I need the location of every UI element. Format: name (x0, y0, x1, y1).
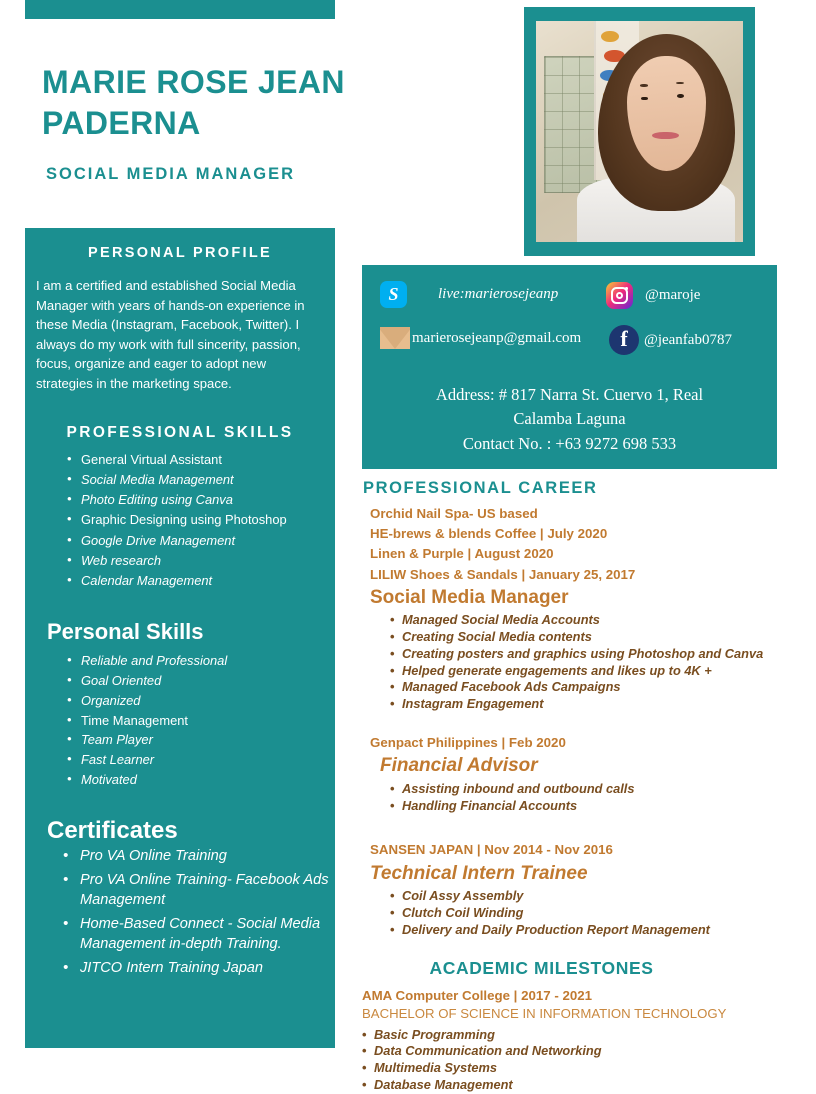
degree-name: BACHELOR OF SCIENCE IN INFORMATION TECHN… (360, 1003, 800, 1024)
personal-skills-heading: Personal Skills (25, 619, 335, 645)
list-item: Managed Facebook Ads Campaigns (390, 679, 800, 696)
personal-skills-list: Reliable and Professional Goal Oriented … (25, 651, 335, 790)
list-item: General Virtual Assistant (67, 450, 335, 470)
school-name: AMA Computer College | 2017 - 2021 (360, 988, 800, 1003)
spacer (360, 814, 800, 840)
list-item: Handling Financial Accounts (390, 798, 800, 815)
list-item: Coil Assy Assembly (390, 888, 800, 905)
list-item: Google Drive Management (67, 531, 335, 551)
contact-number: Contact No. : +63 9272 698 533 (362, 432, 777, 456)
spacer (360, 938, 800, 958)
list-item: Motivated (67, 770, 335, 790)
personal-profile-text: I am a certified and established Social … (25, 261, 335, 393)
list-item: Managed Social Media Accounts (390, 612, 800, 629)
company-line: LILIW Shoes & Sandals | January 25, 2017 (360, 565, 800, 585)
list-item: Creating posters and graphics using Phot… (390, 646, 800, 663)
courses-list: Basic Programming Data Communication and… (360, 1027, 800, 1094)
job-title: Social Media Manager (360, 585, 800, 611)
company-line: SANSEN JAPAN | Nov 2014 - Nov 2016 (360, 840, 800, 860)
address-line-2: Calamba Laguna (362, 407, 777, 431)
facebook-handle: @jeanfab0787 (644, 332, 732, 349)
list-item: Assisting inbound and outbound calls (390, 781, 800, 798)
list-item: Web research (67, 551, 335, 571)
professional-career-heading: PROFESSIONAL CAREER (360, 479, 800, 498)
list-item: Basic Programming (362, 1027, 800, 1044)
list-item: Multimedia Systems (362, 1060, 800, 1077)
company-line: Linen & Purple | August 2020 (360, 544, 800, 564)
instagram-handle: @maroje (645, 287, 700, 304)
left-sidebar: PERSONAL PROFILE I am a certified and es… (25, 228, 335, 1048)
career-entry: Orchid Nail Spa- US based HE-brews & ble… (360, 504, 800, 713)
list-item: Helped generate engagements and likes up… (390, 663, 800, 680)
certificates-heading: Certificates (25, 817, 335, 845)
curtain-pattern-dot (601, 31, 618, 42)
photo-brow (676, 82, 685, 85)
list-item: Social Media Management (67, 470, 335, 490)
photo-eye (641, 97, 647, 101)
list-item: Reliable and Professional (67, 651, 335, 671)
contact-row-skype[interactable]: S live:marierosejeanp (380, 281, 558, 308)
facebook-icon: f (609, 325, 639, 355)
contact-panel: S live:marierosejeanp @maroje marierosej… (362, 265, 777, 469)
list-item: Instagram Engagement (390, 696, 800, 713)
career-entry: SANSEN JAPAN | Nov 2014 - Nov 2016 Techn… (360, 840, 800, 938)
personal-profile-heading: PERSONAL PROFILE (25, 228, 335, 261)
list-item: Clutch Coil Winding (390, 905, 800, 922)
job-duties-list: Coil Assy Assembly Clutch Coil Winding D… (360, 888, 800, 938)
contact-row-facebook[interactable]: f @jeanfab0787 (609, 325, 732, 355)
main-content: PROFESSIONAL CAREER Orchid Nail Spa- US … (360, 479, 800, 1094)
photo-eye (677, 94, 683, 98)
page-title-line1: MARIE ROSE JEAN (42, 62, 442, 103)
professional-skills-list: General Virtual Assistant Social Media M… (25, 450, 335, 591)
list-item: Team Player (67, 730, 335, 750)
academics-section: ACADEMIC MILESTONES AMA Computer College… (360, 958, 800, 1093)
skype-icon: S (380, 281, 407, 308)
job-duties-list: Managed Social Media Accounts Creating S… (360, 612, 800, 713)
list-item: Database Management (362, 1077, 800, 1094)
company-line: Genpact Philippines | Feb 2020 (360, 733, 800, 753)
list-item: Home-Based Connect - Social Media Manage… (63, 915, 335, 954)
job-role-subtitle: SOCIAL MEDIA MANAGER (46, 165, 442, 184)
professional-skills-heading: PROFESSIONAL SKILLS (25, 424, 335, 442)
email-address: marierosejeanp@gmail.com (412, 330, 581, 347)
list-item: Goal Oriented (67, 671, 335, 691)
page-title-line2: PADERNA (42, 103, 442, 144)
list-item: Fast Learner (67, 750, 335, 770)
contact-row-instagram[interactable]: @maroje (606, 282, 700, 309)
academic-milestones-heading: ACADEMIC MILESTONES (360, 958, 800, 979)
list-item: Calendar Management (67, 571, 335, 591)
list-item: JITCO Intern Training Japan (63, 959, 335, 978)
email-icon (380, 327, 410, 349)
photo-brow (640, 84, 649, 87)
job-title: Financial Advisor (360, 753, 800, 779)
job-title: Technical Intern Trainee (360, 861, 800, 887)
list-item: Time Management (67, 711, 335, 731)
list-item: Delivery and Daily Production Report Man… (390, 922, 800, 939)
list-item: Creating Social Media contents (390, 629, 800, 646)
spacer (360, 713, 800, 733)
list-item: Data Communication and Networking (362, 1043, 800, 1060)
address-line-1: Address: # 817 Narra St. Cuervo 1, Real (362, 383, 777, 407)
contact-row-email[interactable]: marierosejeanp@gmail.com (380, 327, 581, 349)
address-block: Address: # 817 Narra St. Cuervo 1, Real … (362, 383, 777, 456)
list-item: Photo Editing using Canva (67, 490, 335, 510)
certificates-list: Pro VA Online Training Pro VA Online Tra… (25, 847, 335, 978)
profile-photo (536, 21, 743, 242)
top-accent-bar (25, 0, 335, 19)
career-entry: Genpact Philippines | Feb 2020 Financial… (360, 733, 800, 814)
list-item: Pro VA Online Training- Facebook Ads Man… (63, 871, 335, 910)
company-line: HE-brews & blends Coffee | July 2020 (360, 524, 800, 544)
profile-photo-frame (524, 7, 755, 256)
list-item: Organized (67, 691, 335, 711)
name-block: MARIE ROSE JEAN PADERNA SOCIAL MEDIA MAN… (42, 62, 442, 184)
instagram-icon (606, 282, 633, 309)
list-item: Pro VA Online Training (63, 847, 335, 866)
skype-handle: live:marierosejeanp (438, 286, 558, 303)
job-duties-list: Assisting inbound and outbound calls Han… (360, 781, 800, 815)
list-item: Graphic Designing using Photoshop (67, 510, 335, 530)
company-line: Orchid Nail Spa- US based (360, 504, 800, 524)
